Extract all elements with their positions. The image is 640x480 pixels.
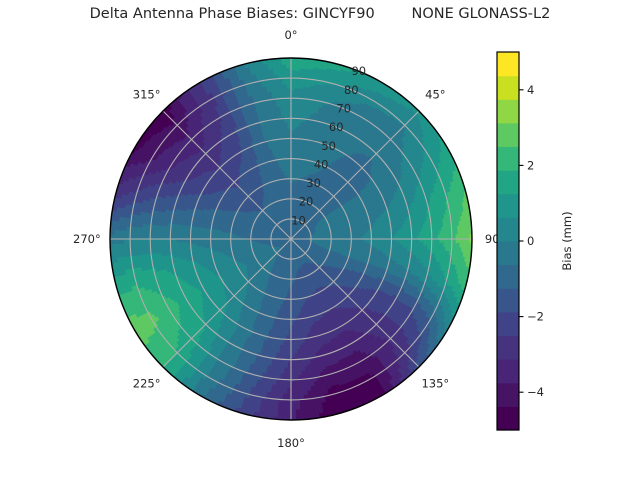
r-tick-label: 70 — [336, 101, 351, 115]
colorbar-tick-label: 4 — [527, 83, 534, 97]
colorbar-axis-label: Bias (mm) — [560, 211, 574, 270]
colorbar-band — [497, 147, 519, 171]
colorbar-band — [497, 359, 519, 383]
polar-contour-svg: 0°45°90°135°180°225°270°315°102030405060… — [0, 0, 640, 480]
colorbar-tick-label: −2 — [527, 310, 544, 324]
polar-plot-container: 0°45°90°135°180°225°270°315°102030405060… — [0, 0, 640, 480]
colorbar-band — [497, 312, 519, 336]
colorbar-band — [497, 383, 519, 407]
theta-tick-label: 135° — [421, 376, 449, 390]
theta-tick-label: 270° — [73, 232, 101, 246]
theta-tick-label: 45° — [425, 88, 445, 102]
theta-tick-label: 180° — [277, 436, 305, 450]
theta-tick-label: 0° — [284, 28, 297, 42]
colorbar-band — [497, 406, 519, 430]
colorbar-band — [497, 170, 519, 194]
r-tick-label: 80 — [344, 83, 359, 97]
r-tick-label: 30 — [306, 176, 321, 190]
colorbar-band — [497, 336, 519, 360]
r-tick-label: 50 — [321, 139, 336, 153]
colorbar-band — [497, 76, 519, 100]
r-tick-label: 10 — [291, 213, 306, 227]
r-tick-label: 60 — [329, 120, 344, 134]
r-tick-label: 20 — [299, 195, 314, 209]
colorbar-tick-label: 0 — [527, 234, 534, 248]
colorbar-band — [497, 99, 519, 123]
colorbar-band — [497, 241, 519, 265]
polar-grid — [110, 58, 472, 420]
theta-tick-label: 225° — [133, 376, 161, 390]
colorbar-band — [497, 52, 519, 76]
colorbar: −4−2024Bias (mm) — [497, 52, 574, 430]
colorbar-band — [497, 265, 519, 289]
r-tick-label: 40 — [314, 157, 329, 171]
colorbar-tick-label: −4 — [527, 385, 544, 399]
colorbar-band — [497, 123, 519, 147]
colorbar-band — [497, 288, 519, 312]
colorbar-band — [497, 217, 519, 241]
colorbar-tick-label: 2 — [527, 158, 534, 172]
figure-canvas: Delta Antenna Phase Biases: GINCYF90 NON… — [0, 0, 640, 480]
r-tick-label: 90 — [351, 64, 366, 78]
colorbar-band — [497, 194, 519, 218]
theta-tick-label: 315° — [133, 88, 161, 102]
